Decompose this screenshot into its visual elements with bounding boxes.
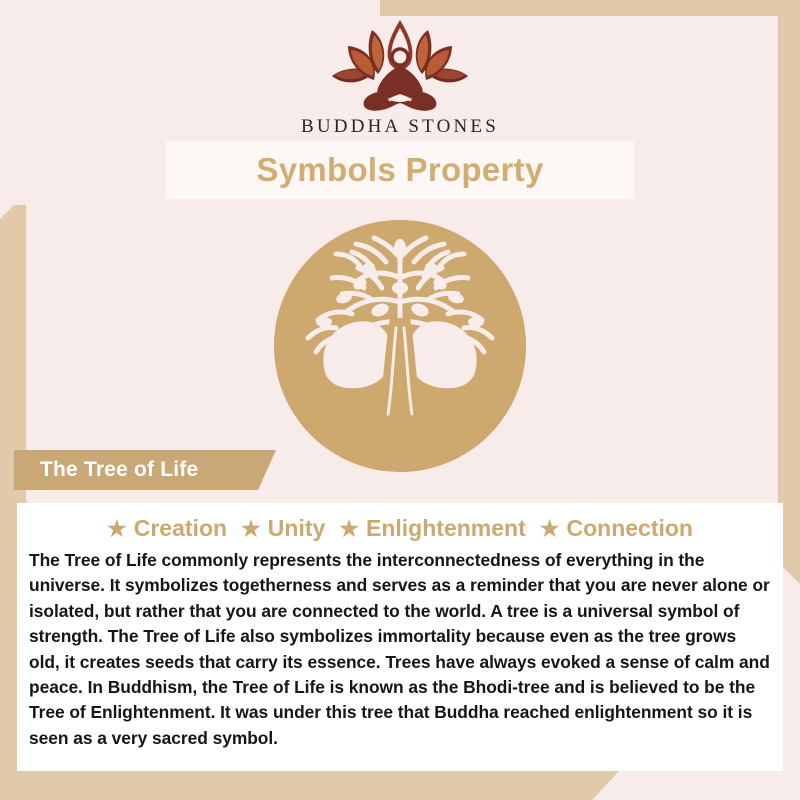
keyword-label: Enlightenment <box>366 515 526 542</box>
page-title: Symbols Property <box>256 151 543 189</box>
description-text: The Tree of Life commonly represents the… <box>29 548 771 751</box>
poster-root: BUDDHA STONES Symbols Property <box>0 0 800 800</box>
keyword-item: ★ Connection <box>540 515 693 542</box>
keyword-label: Connection <box>566 515 693 542</box>
frame-bottom-bar <box>0 770 620 800</box>
title-banner: Symbols Property <box>166 141 634 199</box>
symbol-label: The Tree of Life <box>14 458 198 482</box>
star-icon: ★ <box>339 518 359 540</box>
keyword-item: ★ Unity <box>241 515 325 542</box>
tree-of-life-icon <box>272 218 528 474</box>
star-icon: ★ <box>107 518 127 540</box>
brand-name: BUDDHA STONES <box>0 116 800 138</box>
brand-header: BUDDHA STONES <box>0 14 800 138</box>
keyword-item: ★ Creation <box>107 515 227 542</box>
star-icon: ★ <box>241 518 261 540</box>
keyword-item: ★ Enlightenment <box>339 515 525 542</box>
keyword-label: Unity <box>268 515 326 542</box>
star-icon: ★ <box>540 518 560 540</box>
keyword-list: ★ Creation ★ Unity ★ Enlightenment ★ Con… <box>17 503 783 542</box>
description-card: ★ Creation ★ Unity ★ Enlightenment ★ Con… <box>17 503 783 771</box>
symbol-label-banner: The Tree of Life <box>14 450 276 490</box>
keyword-label: Creation <box>134 515 227 542</box>
lotus-meditation-icon <box>320 14 480 114</box>
